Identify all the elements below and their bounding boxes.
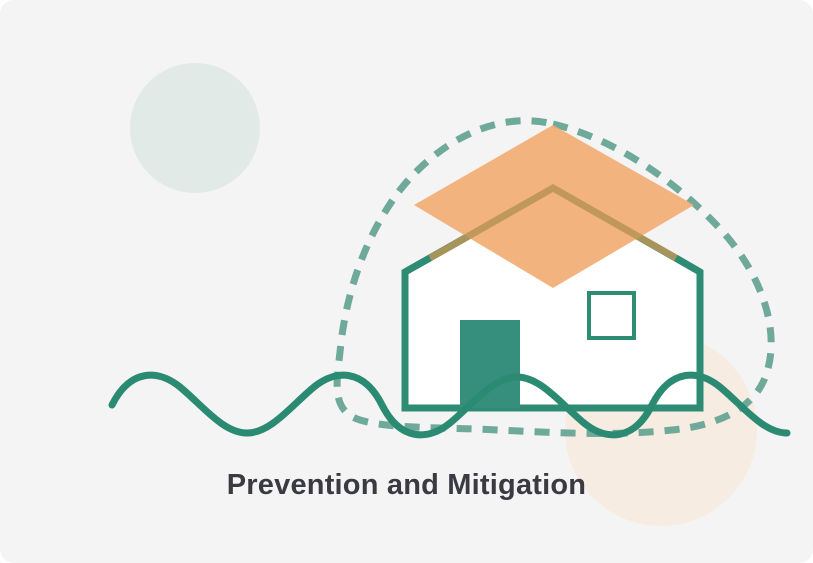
illustration-card: Prevention and Mitigation [0, 0, 813, 563]
page-title: Prevention and Mitigation [0, 468, 813, 503]
decorative-circle-teal-icon [130, 63, 260, 193]
house-door [460, 320, 520, 408]
house-window [589, 293, 634, 338]
illustration-stage: Prevention and Mitigation [0, 0, 813, 563]
